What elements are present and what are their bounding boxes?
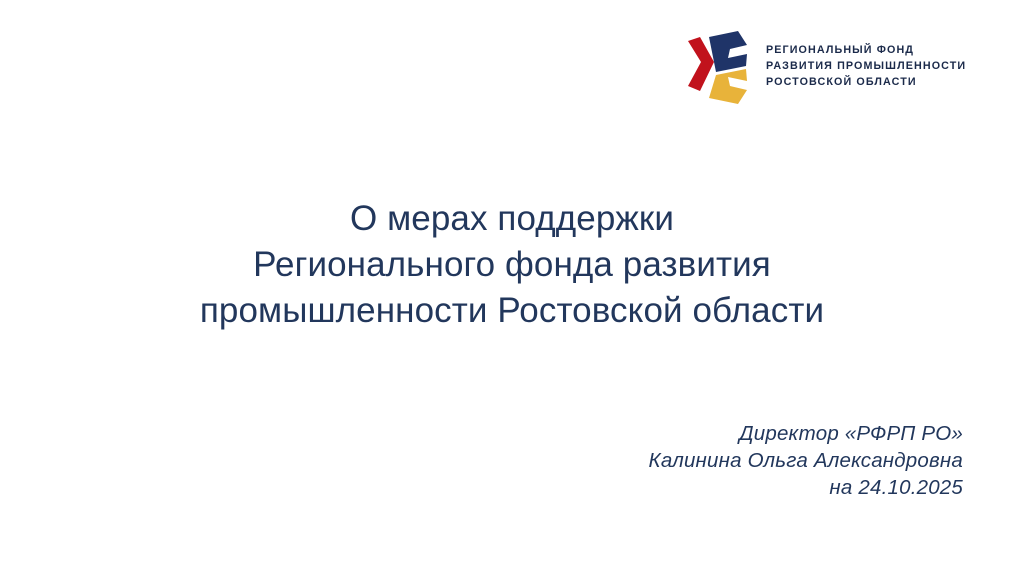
logo-wordmark-line-2: РАЗВИТИЯ ПРОМЫШЛЕННОСТИ bbox=[766, 60, 966, 73]
slide-title-line-2: Регионального фонда развития bbox=[0, 242, 1024, 288]
attribution-person-name: Калинина Ольга Александровна bbox=[649, 447, 963, 474]
logo-wordmark: РЕГИОНАЛЬНЫЙ ФОНД РАЗВИТИЯ ПРОМЫШЛЕННОСТ… bbox=[766, 43, 975, 90]
logo-wordmark-line-1: РЕГИОНАЛЬНЫЙ ФОНД bbox=[766, 44, 966, 57]
slide-title-line-3: промышленности Ростовской области bbox=[0, 288, 1024, 334]
slide-title-line-1: О мерах поддержки bbox=[0, 196, 1024, 242]
attribution-role: Директор «РФРП РО» bbox=[649, 420, 963, 447]
attribution-date: на 24.10.2025 bbox=[649, 474, 963, 501]
rfrp-ro-logo: РЕГИОНАЛЬНЫЙ ФОНД РАЗВИТИЯ ПРОМЫШЛЕННОСТ… bbox=[680, 24, 980, 108]
rfrp-emblem-icon bbox=[680, 28, 752, 104]
logo-wordmark-line-3: РОСТОВСКОЙ ОБЛАСТИ bbox=[766, 76, 966, 89]
slide-title: О мерах поддержки Регионального фонда ра… bbox=[0, 196, 1024, 334]
presentation-title-slide: РЕГИОНАЛЬНЫЙ ФОНД РАЗВИТИЯ ПРОМЫШЛЕННОСТ… bbox=[0, 0, 1024, 576]
slide-attribution: Директор «РФРП РО» Калинина Ольга Алекса… bbox=[649, 420, 963, 501]
